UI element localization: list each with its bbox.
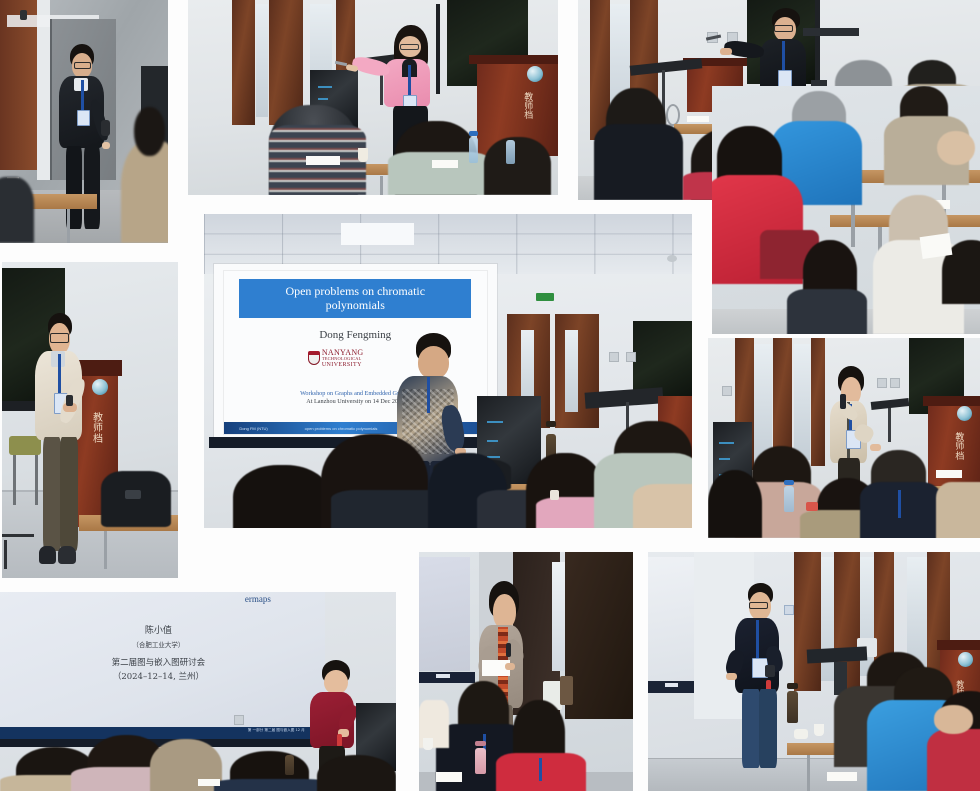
- podium-calligraphy: 教师档: [522, 94, 536, 122]
- slide-title-bar: Open problems on chromatic polynomials: [239, 279, 471, 318]
- photo-speaker-navy-sweater-jeans[interactable]: 教师档: [648, 552, 980, 791]
- photo-collage: 教师档: [0, 0, 980, 791]
- photo-audience-rows-right[interactable]: [712, 86, 980, 334]
- slide-title-line2: polynomials: [326, 298, 385, 312]
- ntu-shield-icon: [308, 351, 320, 365]
- photo-woman-speaking-into-microphone[interactable]: 教师档: [708, 338, 980, 538]
- slide-title-line1: Open problems on chromatic: [285, 284, 425, 298]
- podium-calligraphy-left: 教师档: [90, 414, 106, 446]
- slide-speaker-cn: 陈小值: [0, 623, 325, 636]
- exit-sign: [536, 293, 554, 301]
- slide-footer-bar: 第 一部分 第二届 图与嵌入图 12 月: [0, 727, 325, 739]
- projected-chinese-slide: ermaps 陈小值 （合肥工业大学） 第二届图与嵌入图研讨会 （2024–12…: [0, 592, 325, 739]
- ntu-logo-line3: UNIVERSITY: [322, 362, 364, 368]
- slide-date-cn: （2024–12–14, 兰州）: [0, 670, 325, 682]
- slide-event-cn: 第二届图与嵌入图研讨会: [0, 656, 325, 668]
- photo-chromatic-polynomials-talk[interactable]: Open problems on chromatic polynomials D…: [204, 214, 692, 528]
- slide-footer-note: 第 一部分 第二届 图与嵌入图 12 月: [248, 728, 305, 733]
- photo-woman-presenter-pink-sweater[interactable]: 教师档: [188, 0, 558, 195]
- nanyang-technological-university-logo: NANYANG TECHNOLOGICAL UNIVERSITY: [308, 349, 364, 368]
- photo-woman-reading-from-paper[interactable]: [419, 552, 633, 791]
- slide-footer-center: open problems on chromatic polynomials: [305, 426, 378, 431]
- photo-chinese-slide-presentation[interactable]: ermaps 陈小值 （合肥工业大学） 第二届图与嵌入图研讨会 （2024–12…: [0, 592, 396, 791]
- ntu-logo-line2: TECHNOLOGICAL: [322, 357, 364, 361]
- podium-calligraphy-right: 教师档: [953, 434, 966, 462]
- photo-smiling-speaker-beige-fleece[interactable]: 教师档: [2, 262, 178, 578]
- slide-affiliation-cn: （合肥工业大学）: [0, 639, 325, 649]
- slide-footer-left: Dong FM (NTU): [239, 426, 267, 431]
- slide-partial-title: ermaps: [245, 594, 271, 604]
- photo-speaker-with-microphone-doorway[interactable]: [0, 0, 168, 243]
